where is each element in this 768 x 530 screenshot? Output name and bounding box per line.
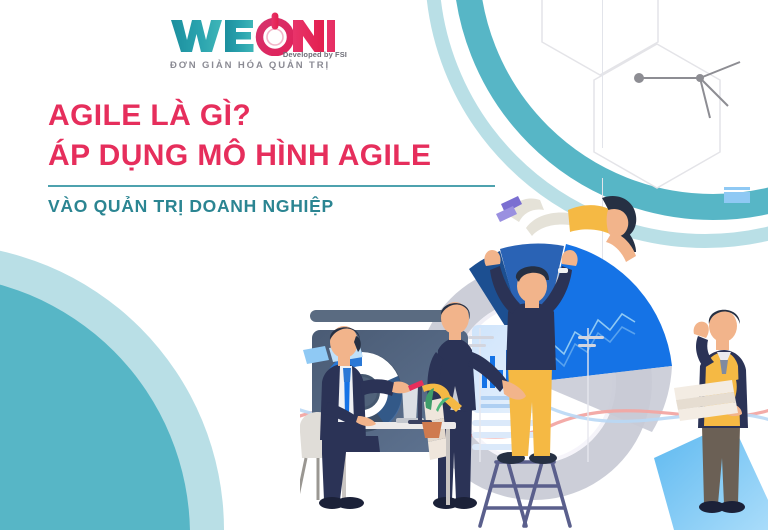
vertical-guide-line-1: [602, 0, 603, 148]
mini-card-icon: [724, 187, 750, 203]
bottom-left-teal-arc: [0, 275, 190, 530]
molecule-node-graphic: [628, 60, 768, 175]
developed-by-label: Developed by FSI: [283, 50, 347, 59]
hexagon-outline-upper: [540, 0, 660, 77]
headline-line-1: AGILE LÀ GÌ?: [48, 96, 548, 136]
poster-canvas: Developed by FSI ĐƠN GIẢN HÓA QUẢN TRỊ A…: [0, 0, 768, 530]
weone-logo[interactable]: Developed by FSI ĐƠN GIẢN HÓA QUẢN TRỊ: [150, 12, 350, 71]
brand-tagline: ĐƠN GIẢN HÓA QUẢN TRỊ: [150, 60, 350, 71]
main-illustration: [300, 170, 768, 530]
bottom-left-pale-arc: [0, 244, 224, 530]
illustration-svg: [300, 170, 768, 530]
hexagon-outline-lower: [592, 42, 722, 190]
